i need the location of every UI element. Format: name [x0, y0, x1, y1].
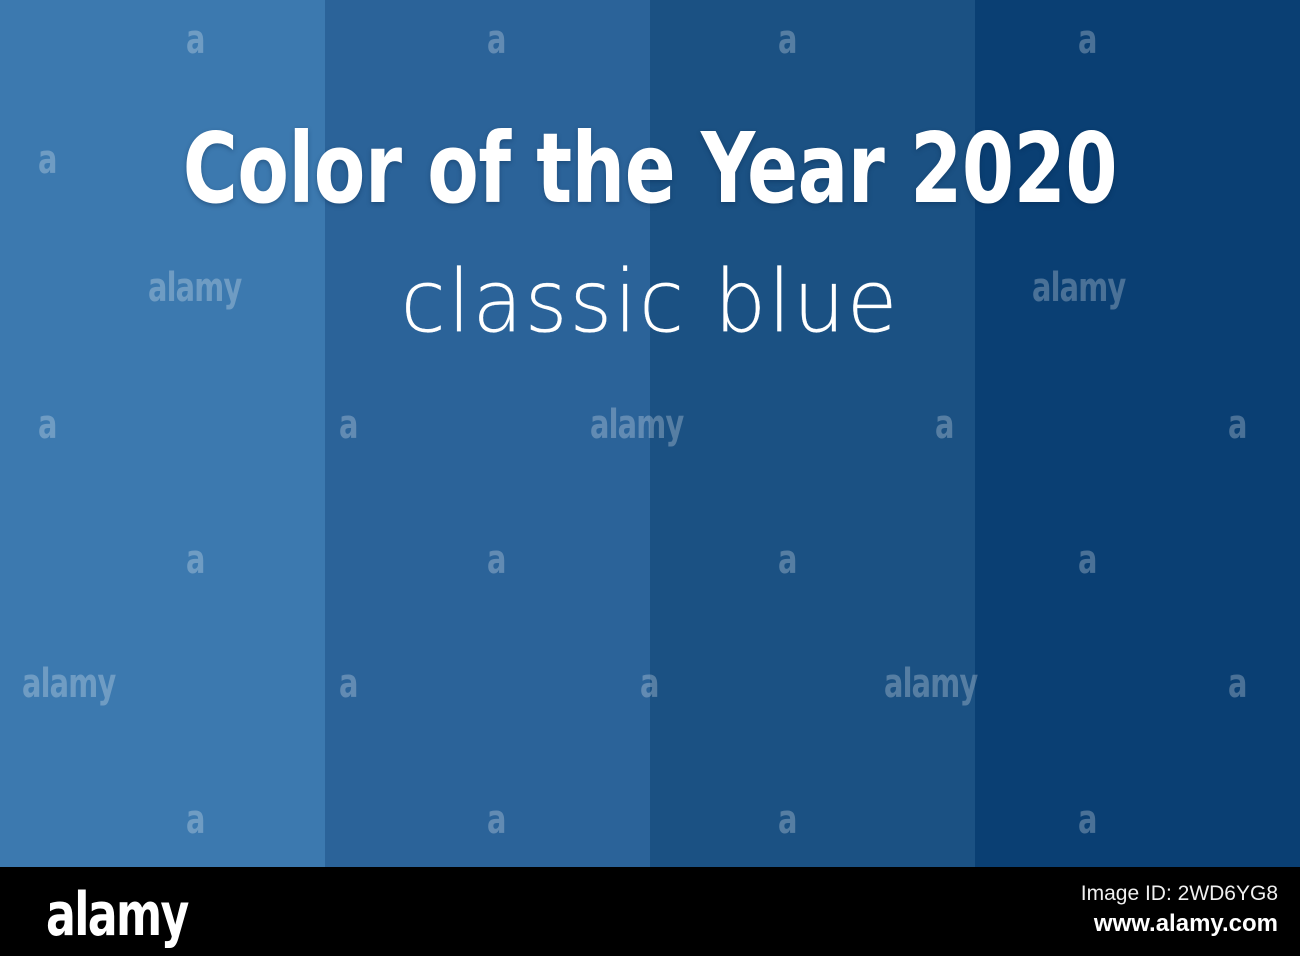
watermark-a: a	[186, 540, 205, 580]
watermark-a: a	[935, 405, 954, 445]
watermark-a: a	[1078, 20, 1097, 60]
watermark-alamy: alamy	[148, 268, 241, 308]
watermark-alamy: alamy	[1032, 268, 1125, 308]
watermark-a: a	[38, 405, 57, 445]
watermark-a: a	[778, 540, 797, 580]
watermark-a: a	[339, 664, 358, 704]
watermark-a: a	[1228, 405, 1247, 445]
color-band-darkest	[975, 0, 1300, 867]
watermark-alamy: alamy	[590, 405, 683, 445]
watermark-a: a	[186, 20, 205, 60]
image-id-label: Image ID: 2WD6YG8	[1081, 881, 1278, 907]
watermark-a: a	[487, 800, 506, 840]
watermark-a: a	[640, 664, 659, 704]
footer-meta: Image ID: 2WD6YG8 www.alamy.com	[1081, 881, 1278, 939]
watermark-a: a	[1078, 800, 1097, 840]
watermark-a: a	[487, 20, 506, 60]
watermark-alamy: alamy	[22, 664, 115, 704]
watermark-a: a	[778, 800, 797, 840]
watermark-a: a	[186, 800, 205, 840]
artwork-canvas: aaaaaalamyalamyaaalamyaaaaaaalamyaaalamy…	[0, 0, 1300, 867]
watermark-a: a	[1078, 540, 1097, 580]
watermark-a: a	[1228, 664, 1247, 704]
watermark-a: a	[778, 20, 797, 60]
alamy-url[interactable]: www.alamy.com	[1081, 909, 1278, 939]
watermark-alamy: alamy	[884, 664, 977, 704]
watermark-a: a	[339, 405, 358, 445]
screenshot-root: aaaaaalamyalamyaaalamyaaaaaaalamyaaalamy…	[0, 0, 1300, 956]
watermark-a: a	[487, 540, 506, 580]
watermark-a: a	[38, 140, 57, 180]
color-band-dark	[650, 0, 975, 867]
alamy-footer-bar: alamy Image ID: 2WD6YG8 www.alamy.com	[0, 867, 1300, 956]
alamy-logo: alamy	[46, 885, 188, 945]
